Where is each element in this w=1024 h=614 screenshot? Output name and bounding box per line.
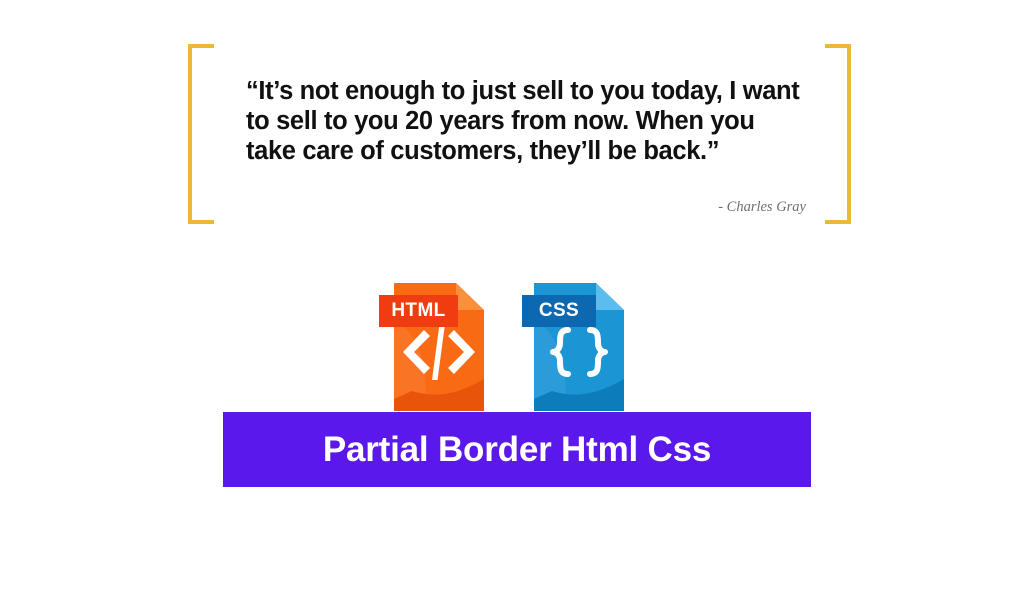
quote-text-container: “It’s not enough to just sell to you tod… (246, 76, 806, 166)
html-file-label: HTML (379, 295, 458, 327)
bracket-bottom-right-arm (825, 220, 851, 224)
css-file-label: CSS (522, 295, 596, 327)
bracket-bottom-left-arm (188, 220, 214, 224)
quote-card: “It’s not enough to just sell to you tod… (188, 44, 851, 224)
bracket-top-left-arm (188, 44, 214, 48)
bracket-top-right-arm (825, 44, 851, 48)
page-title: Partial Border Html Css (323, 430, 711, 470)
quote-text: “It’s not enough to just sell to you tod… (246, 76, 806, 166)
file-icons-row: HTML CSS (394, 283, 626, 411)
quote-author: - Charles Gray (246, 199, 806, 216)
bracket-right-vertical (847, 44, 851, 224)
bracket-left-vertical (188, 44, 192, 224)
html-file-icon: HTML (394, 283, 484, 411)
title-banner: Partial Border Html Css (223, 412, 811, 487)
css-file-icon: CSS (534, 283, 624, 411)
